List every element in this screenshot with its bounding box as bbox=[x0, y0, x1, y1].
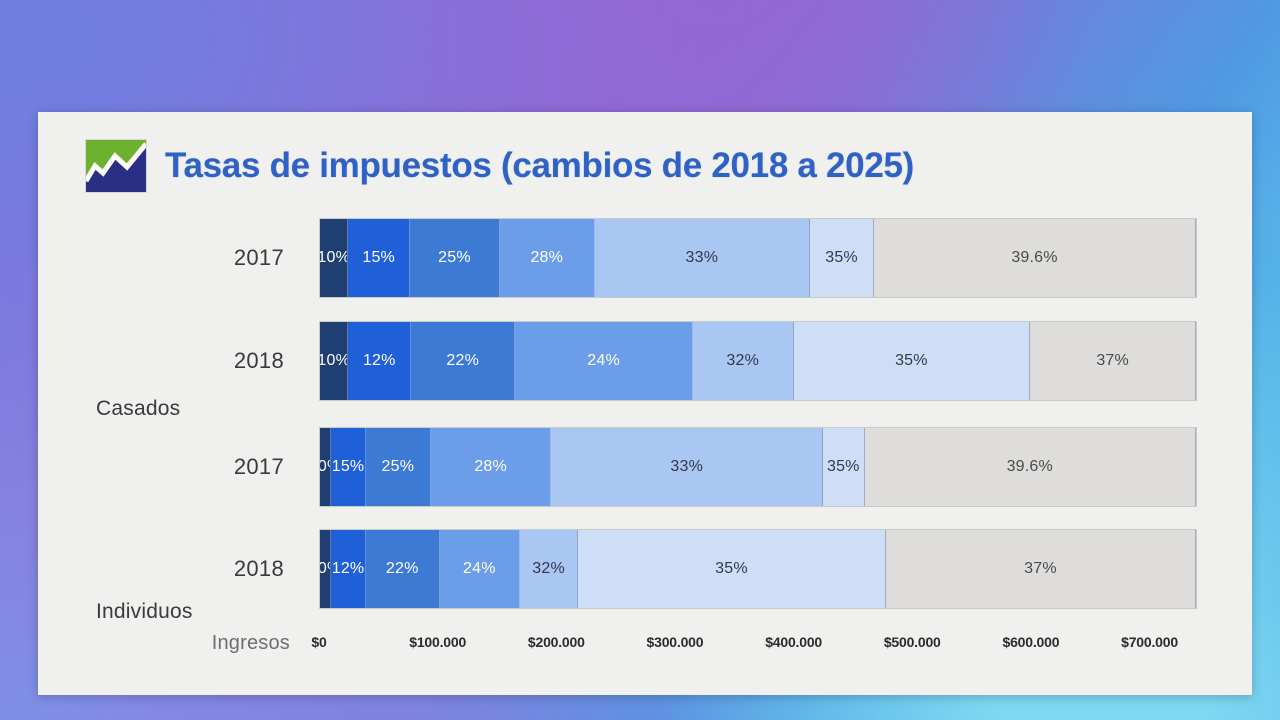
bar-segment-label: 10% bbox=[320, 352, 348, 370]
bar-segment: 32% bbox=[693, 322, 794, 400]
x-axis-tick-label: $700.000 bbox=[1121, 634, 1178, 650]
stacked-bar: 10%15%25%28%33%35%39.6% bbox=[319, 427, 1197, 507]
bar-segment: 12% bbox=[348, 322, 411, 400]
bar-segment: 15% bbox=[331, 428, 366, 506]
bar-segment: 37% bbox=[1030, 322, 1196, 400]
x-axis-tick-label: $100.000 bbox=[409, 634, 466, 650]
bar-segment-label: 39.6% bbox=[1011, 249, 1057, 267]
bar-segment-label: 15% bbox=[362, 249, 395, 267]
bar-segment-label: 39.6% bbox=[1007, 458, 1053, 476]
x-axis-tick-label: $600.000 bbox=[1002, 634, 1059, 650]
bar-segment-label: 10% bbox=[320, 249, 348, 267]
bar-segment-label: 10% bbox=[320, 560, 331, 578]
bar-segment-label: 35% bbox=[895, 352, 928, 370]
chart-header: Tasas de impuestos (cambios de 2018 a 20… bbox=[38, 112, 1252, 192]
bar-segment-label: 25% bbox=[382, 458, 415, 476]
bar-segment-label: 12% bbox=[363, 352, 396, 370]
chart-plot-area: Casados Individuos 2017 10%15%25%28%33%3… bbox=[38, 210, 1252, 670]
bar-segment: 35% bbox=[810, 219, 874, 297]
row-year-label: 2017 bbox=[188, 454, 284, 480]
bar-segment: 22% bbox=[366, 530, 440, 608]
bar-segment: 25% bbox=[366, 428, 431, 506]
bar-row: 2018 10%12%22%24%32%35%37% bbox=[38, 529, 1252, 609]
bar-segment: 33% bbox=[551, 428, 823, 506]
bar-segment: 35% bbox=[578, 530, 886, 608]
bar-segment: 12% bbox=[331, 530, 366, 608]
bar-segment-label: 28% bbox=[474, 458, 507, 476]
row-year-label: 2017 bbox=[188, 245, 284, 271]
bar-segment: 39.6% bbox=[874, 219, 1196, 297]
bar-segment-label: 35% bbox=[715, 560, 748, 578]
bar-row: 2017 10%15%25%28%33%35%39.6% bbox=[38, 427, 1252, 507]
bar-segment-label: 35% bbox=[825, 249, 858, 267]
bar-segment: 10% bbox=[320, 428, 331, 506]
bar-segment: 32% bbox=[520, 530, 578, 608]
bar-segment-label: 24% bbox=[463, 560, 496, 578]
bar-segment-label: 15% bbox=[332, 458, 365, 476]
bar-segment: 15% bbox=[348, 219, 410, 297]
chart-card: Tasas de impuestos (cambios de 2018 a 20… bbox=[38, 112, 1252, 695]
bar-segment: 28% bbox=[431, 428, 551, 506]
bar-segment: 39.6% bbox=[865, 428, 1196, 506]
bar-segment: 10% bbox=[320, 322, 348, 400]
bar-segment-label: 24% bbox=[587, 352, 620, 370]
bar-segment: 24% bbox=[440, 530, 521, 608]
bar-segment: 10% bbox=[320, 530, 331, 608]
bar-segment: 37% bbox=[886, 530, 1196, 608]
bar-segment: 35% bbox=[794, 322, 1031, 400]
stacked-bar: 10%15%25%28%33%35%39.6% bbox=[319, 218, 1197, 298]
x-axis-tick-label: $200.000 bbox=[528, 634, 585, 650]
stacked-bar: 10%12%22%24%32%35%37% bbox=[319, 321, 1197, 401]
x-axis-tick-label: $0 bbox=[311, 634, 326, 650]
bar-segment-label: 22% bbox=[386, 560, 419, 578]
bar-segment: 25% bbox=[410, 219, 500, 297]
bar-segment: 10% bbox=[320, 219, 348, 297]
bar-segment: 33% bbox=[595, 219, 810, 297]
bar-row: 2018 10%12%22%24%32%35%37% bbox=[38, 321, 1252, 401]
bar-segment-label: 37% bbox=[1096, 352, 1129, 370]
bar-segment-label: 37% bbox=[1024, 560, 1057, 578]
bar-segment-label: 28% bbox=[530, 249, 563, 267]
row-year-label: 2018 bbox=[188, 556, 284, 582]
x-axis-tick-label: $300.000 bbox=[647, 634, 704, 650]
x-axis-title: Ingresos bbox=[178, 632, 290, 655]
bar-segment-label: 33% bbox=[686, 249, 719, 267]
bar-segment-label: 32% bbox=[532, 560, 565, 578]
bar-segment-label: 12% bbox=[332, 560, 365, 578]
bar-segment: 22% bbox=[411, 322, 515, 400]
bar-segment-label: 32% bbox=[726, 352, 759, 370]
bar-row: 2017 10%15%25%28%33%35%39.6% bbox=[38, 218, 1252, 298]
page-title: Tasas de impuestos (cambios de 2018 a 20… bbox=[165, 146, 914, 186]
x-axis-tick-label: $500.000 bbox=[884, 634, 941, 650]
bar-segment-label: 33% bbox=[670, 458, 703, 476]
bar-segment: 28% bbox=[500, 219, 595, 297]
x-axis-tick-label: $400.000 bbox=[765, 634, 822, 650]
bar-segment-label: 10% bbox=[320, 458, 331, 476]
x-axis: Ingresos $0$100.000$200.000$300.000$400.… bbox=[38, 628, 1252, 662]
bar-segment: 35% bbox=[823, 428, 864, 506]
bar-segment-label: 35% bbox=[827, 458, 860, 476]
line-chart-icon bbox=[86, 140, 146, 192]
bar-segment-label: 22% bbox=[446, 352, 479, 370]
bar-segment: 24% bbox=[515, 322, 693, 400]
stacked-bar: 10%12%22%24%32%35%37% bbox=[319, 529, 1197, 609]
bar-segment-label: 25% bbox=[438, 249, 471, 267]
row-year-label: 2018 bbox=[188, 348, 284, 374]
